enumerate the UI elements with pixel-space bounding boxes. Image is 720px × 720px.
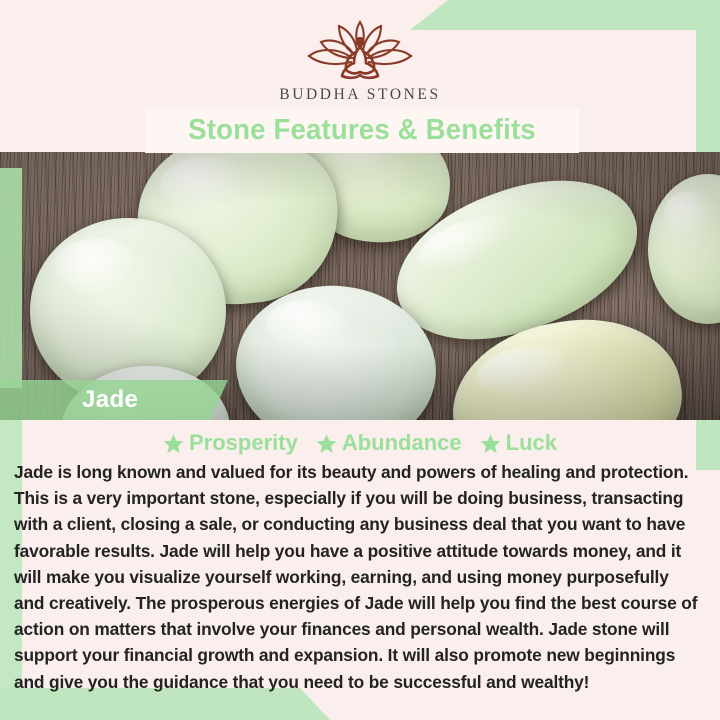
brand-logo: BUDDHA STONES: [0, 18, 720, 104]
stone-name-label: Jade: [82, 386, 138, 414]
decorative-strip-over-photo: [0, 168, 22, 388]
feature-label: Luck: [506, 430, 557, 456]
brand-wordmark: BUDDHA STONES: [0, 86, 720, 104]
photo-vignette: [0, 152, 720, 420]
feature-abundance: Abundance: [316, 430, 462, 456]
star-icon: [163, 433, 184, 454]
star-icon: [480, 433, 501, 454]
jade-stones-photo: [0, 152, 720, 420]
feature-label: Abundance: [342, 430, 462, 456]
stone-description: Jade is long known and valued for its be…: [14, 459, 698, 695]
lotus-meditation-icon: [301, 18, 419, 84]
feature-label: Prosperity: [189, 430, 298, 456]
title-banner: Stone Features & Benefits: [145, 107, 579, 153]
star-icon: [316, 433, 337, 454]
stone-features-infographic: BUDDHA STONES Stone Features & Benefits …: [0, 0, 720, 720]
feature-prosperity: Prosperity: [163, 430, 298, 456]
feature-luck: Luck: [480, 430, 557, 456]
page-title: Stone Features & Benefits: [188, 114, 536, 147]
features-row: Prosperity Abundance Luck: [0, 430, 720, 456]
stone-name-banner: Jade: [0, 380, 228, 420]
